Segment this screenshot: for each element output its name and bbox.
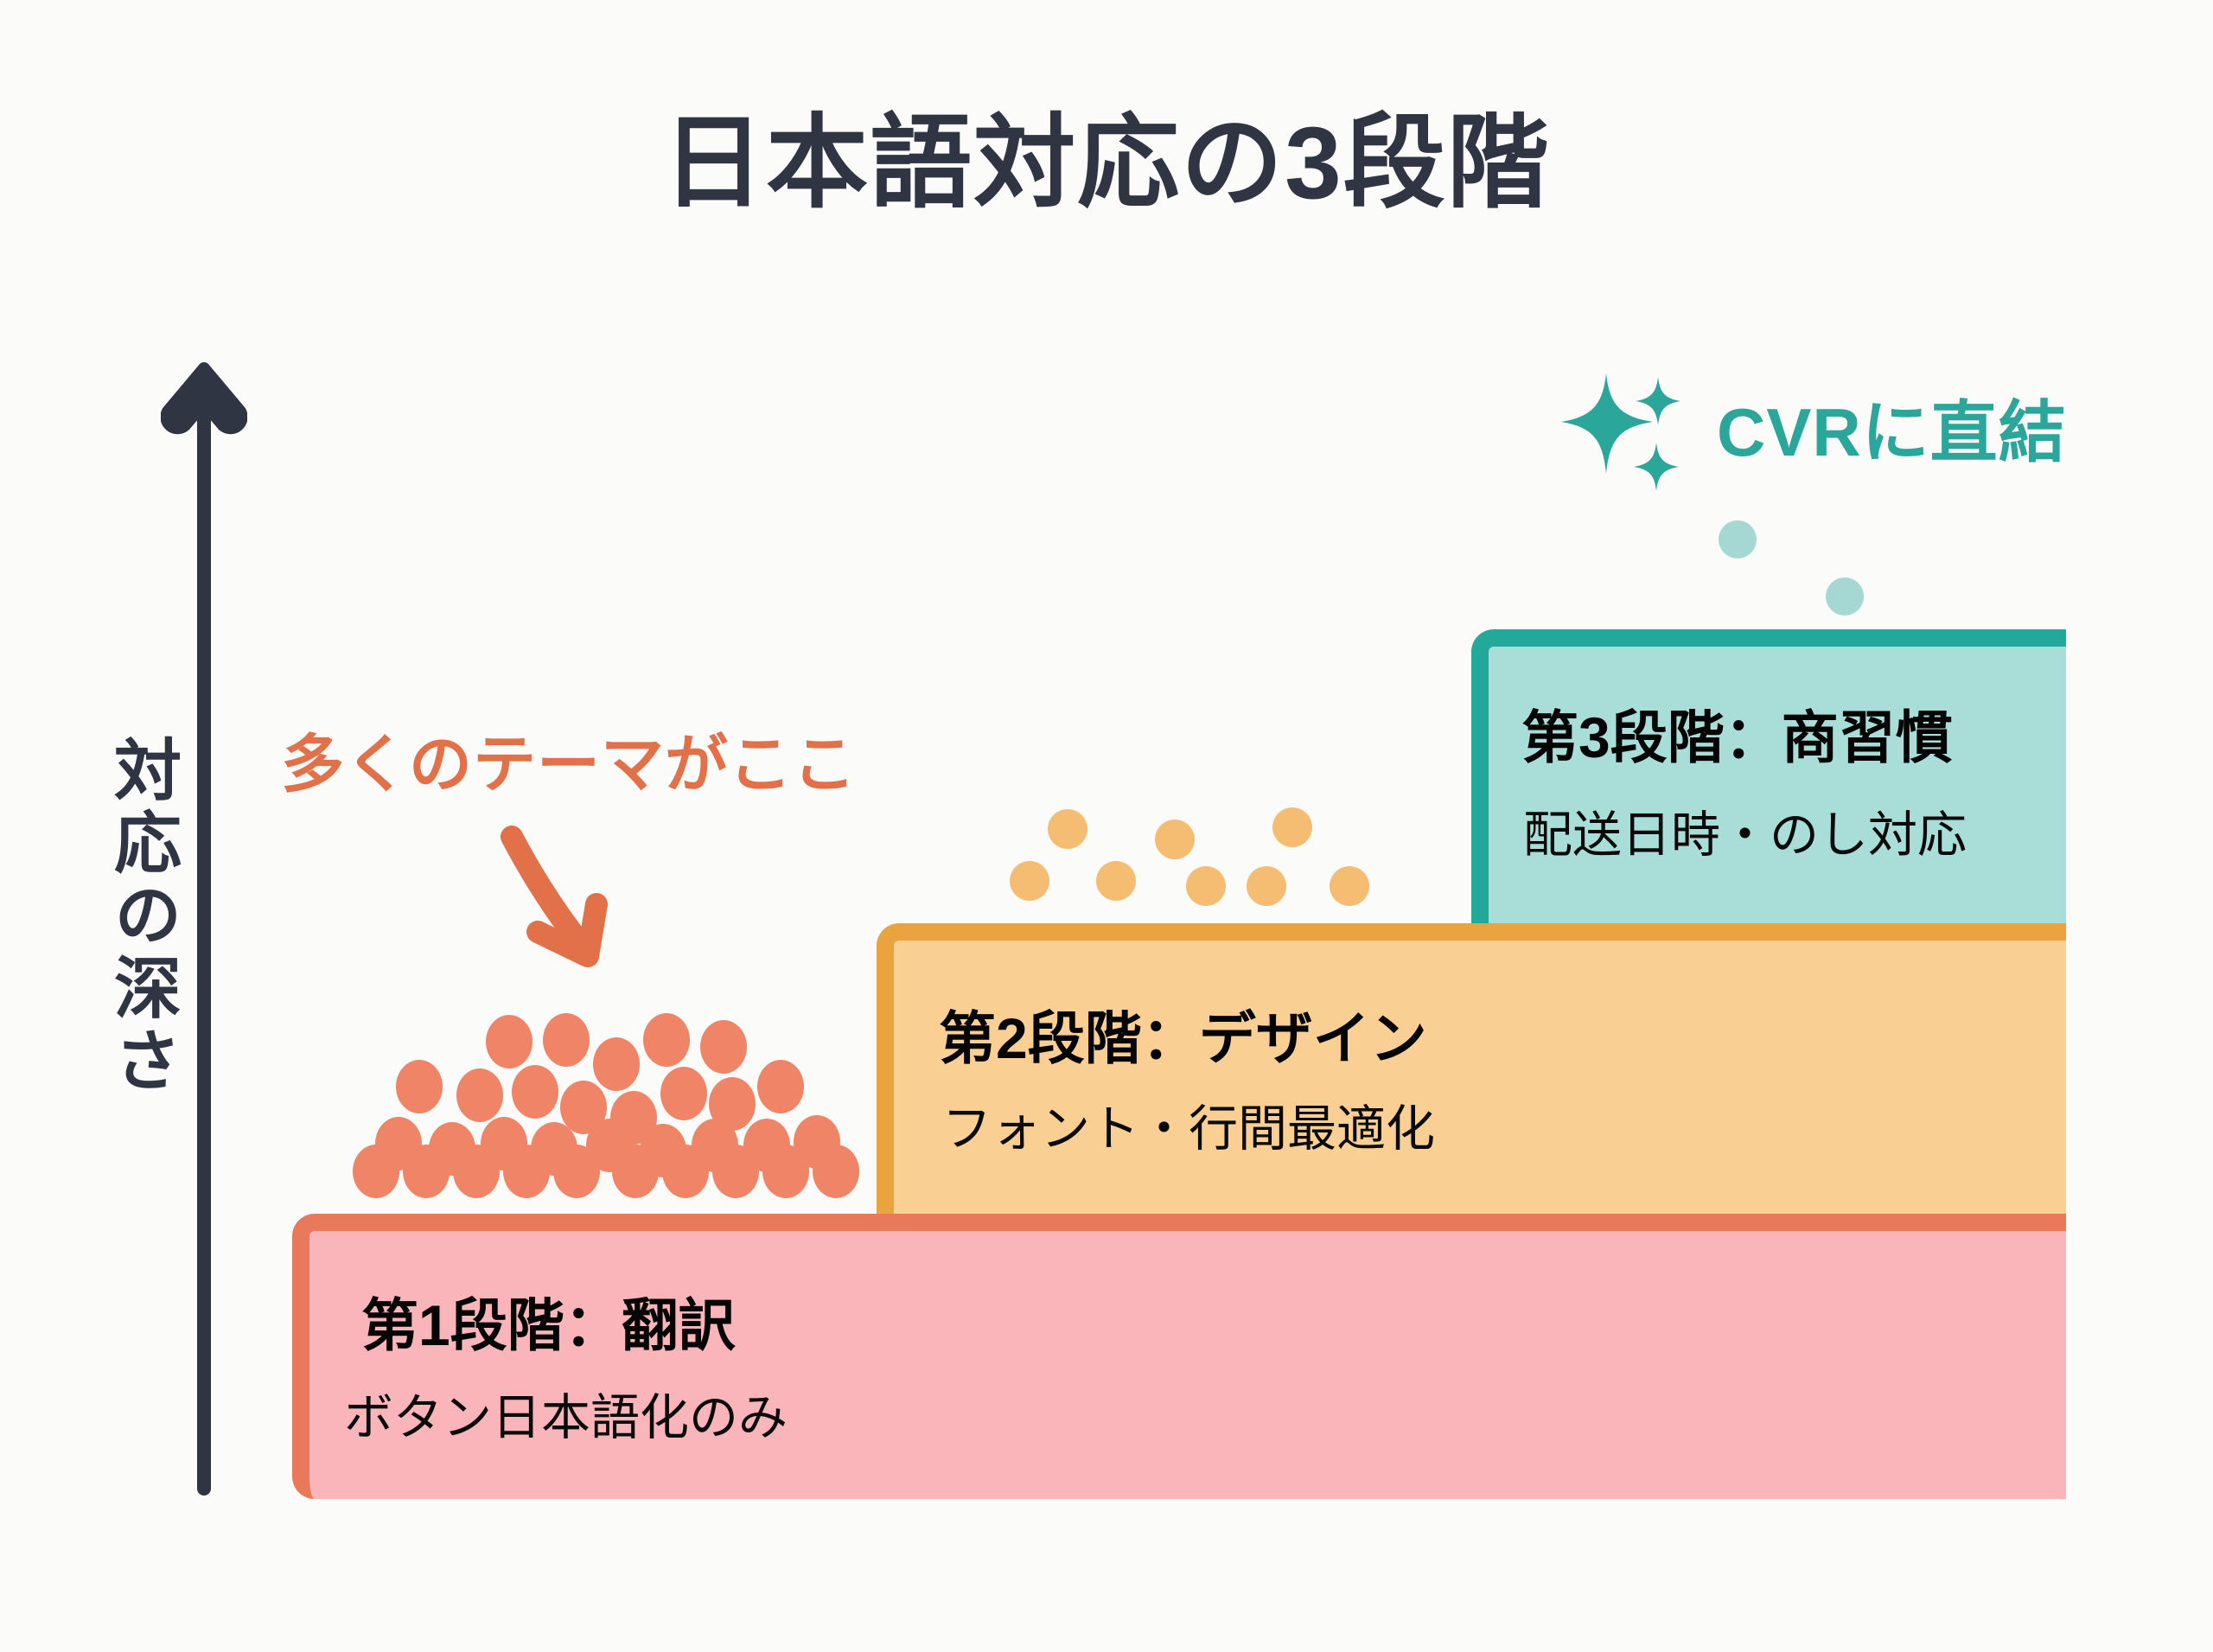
dot bbox=[1096, 861, 1136, 901]
dot bbox=[396, 1060, 443, 1113]
page-title: 日本語対応の3段階 bbox=[0, 112, 2213, 214]
dot bbox=[709, 1077, 756, 1131]
dot bbox=[1010, 861, 1049, 901]
annotation-label: 多くのテーマがここ bbox=[281, 733, 857, 796]
step-3-title: 第3段階：商習慣 bbox=[1521, 709, 1953, 766]
cvr-label: CVRに直結 bbox=[1717, 399, 2067, 466]
step-1-subtitle: ボタン日本語化のみ bbox=[344, 1394, 788, 1443]
step-2-subtitle: フォント・行間最適化 bbox=[942, 1105, 1435, 1154]
y-axis-line bbox=[197, 380, 211, 1496]
up-arrow-icon bbox=[161, 361, 247, 439]
dot bbox=[1186, 866, 1226, 906]
dot bbox=[1719, 520, 1757, 558]
dot bbox=[643, 1013, 690, 1067]
dot bbox=[1272, 807, 1312, 847]
dot bbox=[1155, 820, 1195, 859]
dot bbox=[660, 1067, 707, 1120]
dot bbox=[1247, 866, 1286, 906]
dot bbox=[700, 1020, 747, 1074]
step-2-title: 第2段階：デザイン bbox=[939, 1010, 1427, 1067]
dot bbox=[593, 1037, 640, 1091]
y-axis-label: 対応の深さ bbox=[81, 735, 176, 1098]
curved-down-arrow-icon bbox=[493, 821, 700, 994]
dot bbox=[1330, 866, 1369, 906]
dot bbox=[743, 1119, 790, 1172]
dot bbox=[543, 1013, 590, 1067]
dot bbox=[1826, 577, 1864, 616]
dot bbox=[1048, 809, 1087, 849]
dot bbox=[794, 1115, 840, 1169]
infographic-canvas: 日本語対応の3段階 対応の深さ bbox=[0, 0, 2213, 1652]
sparkles-icon bbox=[1556, 363, 1694, 501]
dot bbox=[610, 1091, 657, 1145]
dot bbox=[375, 1117, 422, 1170]
dot bbox=[486, 1015, 533, 1068]
step-3-subtitle: 配送日時・のし対応 bbox=[1523, 811, 1967, 860]
cvr-badge: CVRに直結 bbox=[1556, 363, 2067, 501]
dot bbox=[560, 1081, 607, 1134]
dot bbox=[512, 1065, 558, 1119]
step-3-band bbox=[1471, 629, 2066, 923]
dot bbox=[456, 1068, 503, 1122]
dot bbox=[429, 1122, 475, 1176]
dot bbox=[757, 1060, 804, 1113]
step-1-title: 第1段階：翻訳 bbox=[361, 1297, 736, 1354]
dot bbox=[481, 1117, 527, 1170]
